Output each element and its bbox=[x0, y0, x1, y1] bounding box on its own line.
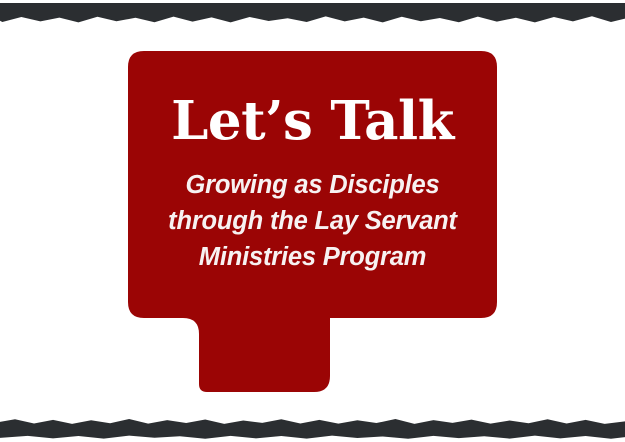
bubble-text-block: Let’s Talk Growing as Disciples through … bbox=[128, 51, 497, 318]
torn-paper-band-top bbox=[0, 3, 625, 23]
presentation-slide: Let’s Talk Growing as Disciples through … bbox=[0, 0, 625, 442]
bubble-subtitle-line-3: Ministries Program bbox=[168, 239, 457, 275]
bubble-subtitle-line-2: through the Lay Servant bbox=[168, 203, 457, 239]
bubble-title: Let’s Talk bbox=[171, 93, 454, 149]
bubble-subtitle: Growing as Disciples through the Lay Ser… bbox=[168, 167, 457, 275]
torn-paper-band-bottom bbox=[0, 418, 625, 439]
speech-bubble: Let’s Talk Growing as Disciples through … bbox=[128, 51, 497, 393]
bubble-subtitle-line-1: Growing as Disciples bbox=[168, 167, 457, 203]
